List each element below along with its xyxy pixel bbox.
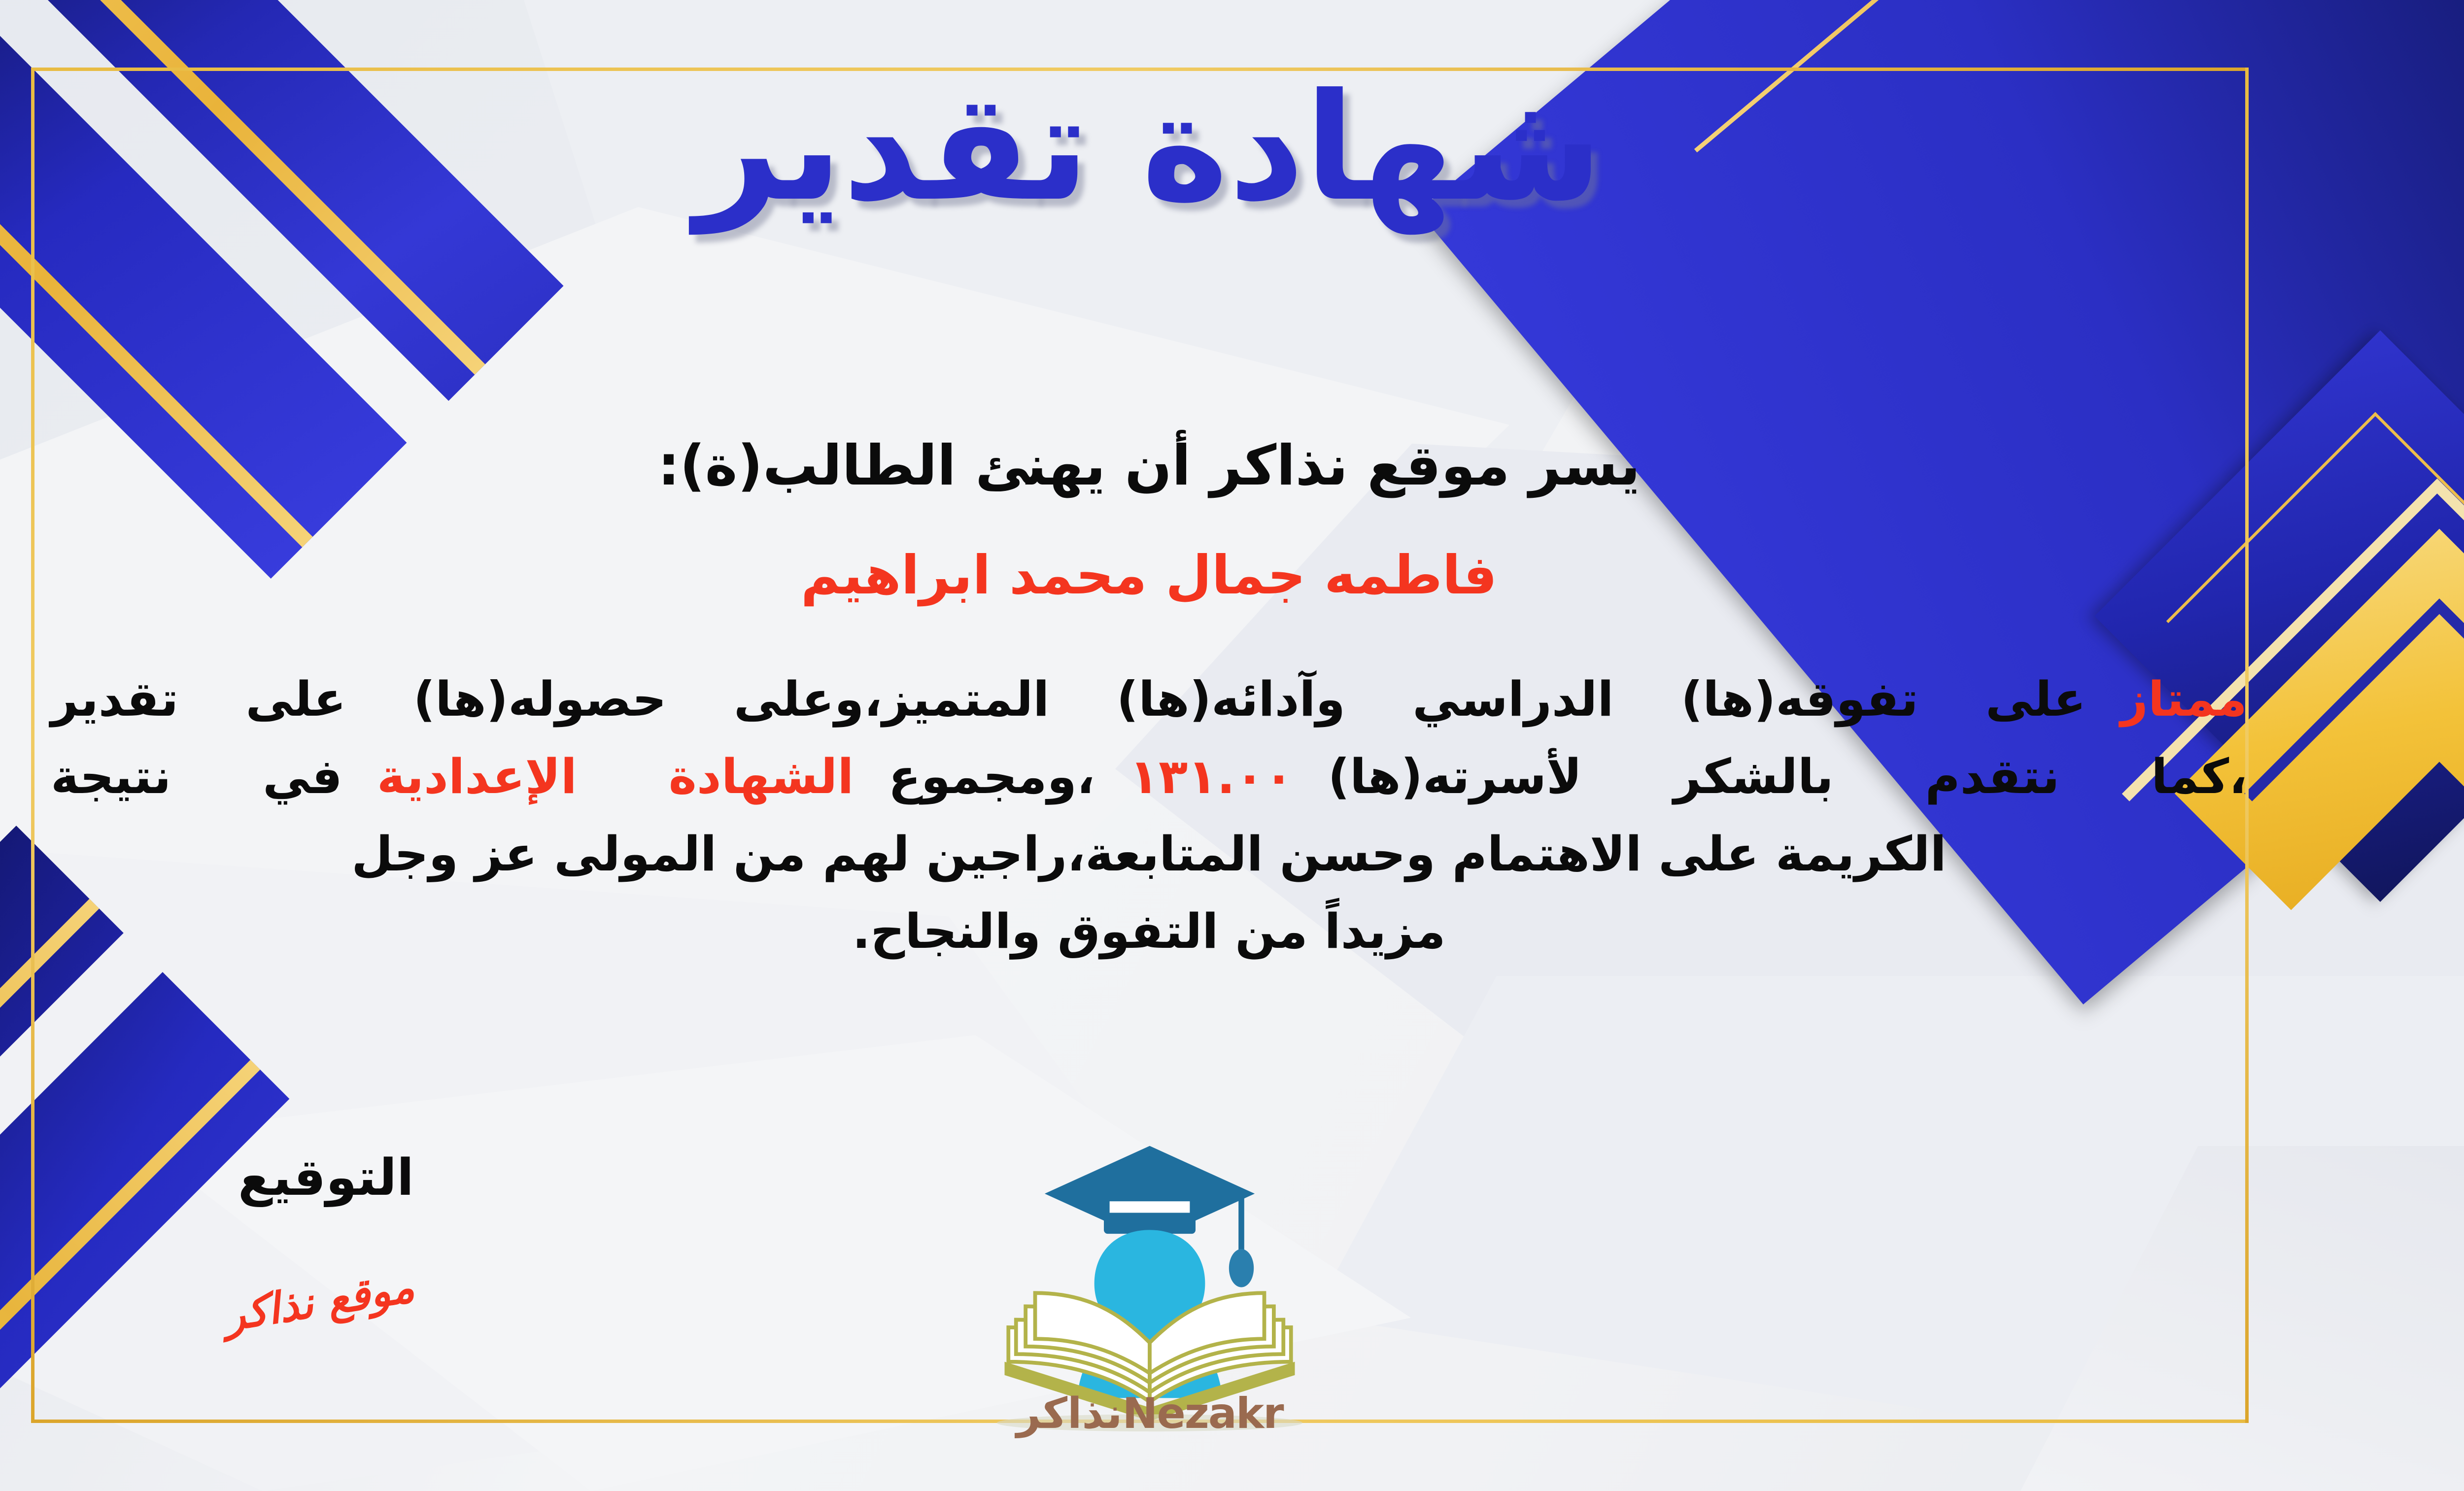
graduate-book-icon — [958, 1129, 1342, 1434]
body-line-4: مزيداً من التفوق والنجاح. — [51, 893, 2247, 970]
body-line-3: الكريمة على الاهتمام وحسن المتابعة،راجين… — [51, 815, 2247, 893]
signature-label: التوقيع — [238, 1148, 414, 1207]
body-line-1-text: على تفوقه(ها) الدراسي وآدائه(ها) المتميز… — [51, 671, 2086, 727]
body-line-1: ممتازعلى تفوقه(ها) الدراسي وآدائه(ها) ال… — [51, 660, 2247, 738]
body-line-2-tail: ،كما نتقدم بالشكر لأسرته(ها) — [1328, 749, 2247, 804]
certificate-page: شهادة تقدير يسر موقع نذاكر أن يهنئ الطال… — [0, 0, 2464, 1491]
total-score-value: ١٣١.٠٠ — [1129, 749, 1294, 804]
body-line-2-mid: ،ومجموع — [889, 749, 1095, 804]
grade-value: ممتاز — [2121, 671, 2247, 727]
certificate-body: ممتازعلى تفوقه(ها) الدراسي وآدائه(ها) ال… — [51, 660, 2247, 971]
greeting-text: يسر موقع نذاكر أن يهنئ الطالب(ة): — [0, 434, 2464, 498]
nezakr-logo: Nezakrنذاكر — [958, 1129, 1342, 1434]
logo-brand-text: Nezakrنذاكر — [958, 1389, 1342, 1438]
certificate-content: شهادة تقدير يسر موقع نذاكر أن يهنئ الطال… — [0, 0, 2464, 1491]
exam-name-value: الشهادة الإعدادية — [377, 749, 854, 804]
body-line-2: ،كما نتقدم بالشكر لأسرته(ها)١٣١.٠٠،ومجمو… — [51, 738, 2247, 815]
certificate-title: شهادة تقدير — [0, 74, 2464, 222]
student-name: فاطمه جمال محمد ابراهيم — [0, 545, 2464, 606]
body-line-2-head: في نتيجة — [51, 749, 342, 804]
signature-mark: موقع نذاكر — [220, 1262, 417, 1341]
